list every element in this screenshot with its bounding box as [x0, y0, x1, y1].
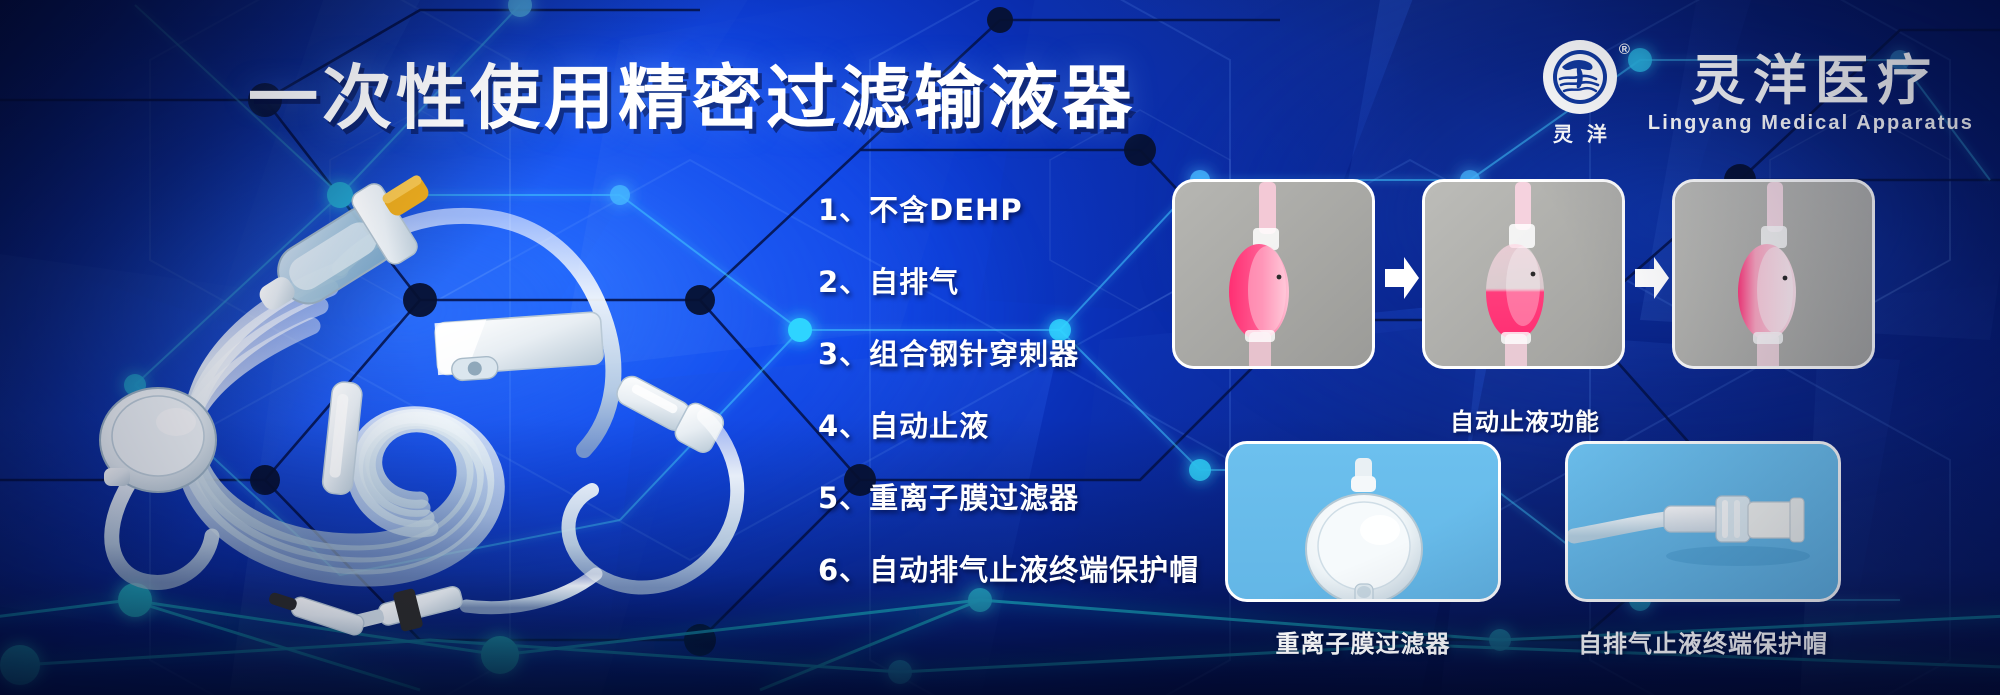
list-item: 6、自动排气止液终端保护帽	[818, 556, 1199, 585]
page-title: 一次性使用精密过滤输液器	[248, 42, 1136, 143]
brand-name-cn: 灵洋医疗	[1683, 52, 1939, 109]
product-photo-infusion-set	[40, 150, 800, 670]
auto-stop-frame-2	[1422, 179, 1625, 369]
arrow-right-icon-1	[1385, 255, 1419, 301]
brand-logo: ® 灵洋 灵洋医疗 Lingyang Medical Apparatus	[1534, 40, 1974, 147]
caption-auto-stop: 自动止液功能	[1412, 402, 1638, 437]
drip-chamber	[240, 160, 453, 336]
brand-name-en: Lingyang Medical Apparatus	[1648, 112, 1974, 135]
brand-mark-subtext: 灵洋	[1534, 118, 1626, 147]
registered-mark: ®	[1619, 42, 1630, 57]
auto-stop-frame-3	[1672, 179, 1875, 369]
arrow-right-icon-2	[1635, 255, 1669, 301]
auto-stop-frame-1	[1172, 179, 1375, 369]
product-panel-filter	[1225, 441, 1501, 602]
needle-hub	[348, 577, 466, 643]
brand-name-block: 灵洋医疗 Lingyang Medical Apparatus	[1648, 52, 1974, 134]
banner-root: 一次性使用精密过滤输液器 ® 灵洋 灵洋医疗 Lingyang Me	[0, 0, 2000, 695]
terminal-cap	[267, 588, 366, 637]
feature-list: 1、不含DEHP 2、自排气 3、组合钢针穿刺器 4、自动止液 5、重离子膜过滤…	[818, 196, 1199, 585]
product-panel-cap	[1565, 441, 1841, 602]
brand-mark: ® 灵洋	[1534, 40, 1626, 147]
list-item: 5、重离子膜过滤器	[818, 484, 1199, 513]
list-item: 2、自排气	[818, 268, 1199, 297]
caption-filter: 重离子膜过滤器	[1253, 624, 1473, 659]
list-item: 3、组合钢针穿刺器	[818, 340, 1199, 369]
list-item: 4、自动止液	[818, 412, 1199, 441]
filter-disc	[100, 388, 216, 492]
caption-terminal-cap: 自排气止液终端保护帽	[1543, 624, 1863, 659]
list-item: 1、不含DEHP	[818, 196, 1199, 225]
y-connector	[610, 367, 727, 456]
roller-clamp	[435, 312, 605, 382]
wave-bird-logo-icon	[1543, 40, 1617, 114]
